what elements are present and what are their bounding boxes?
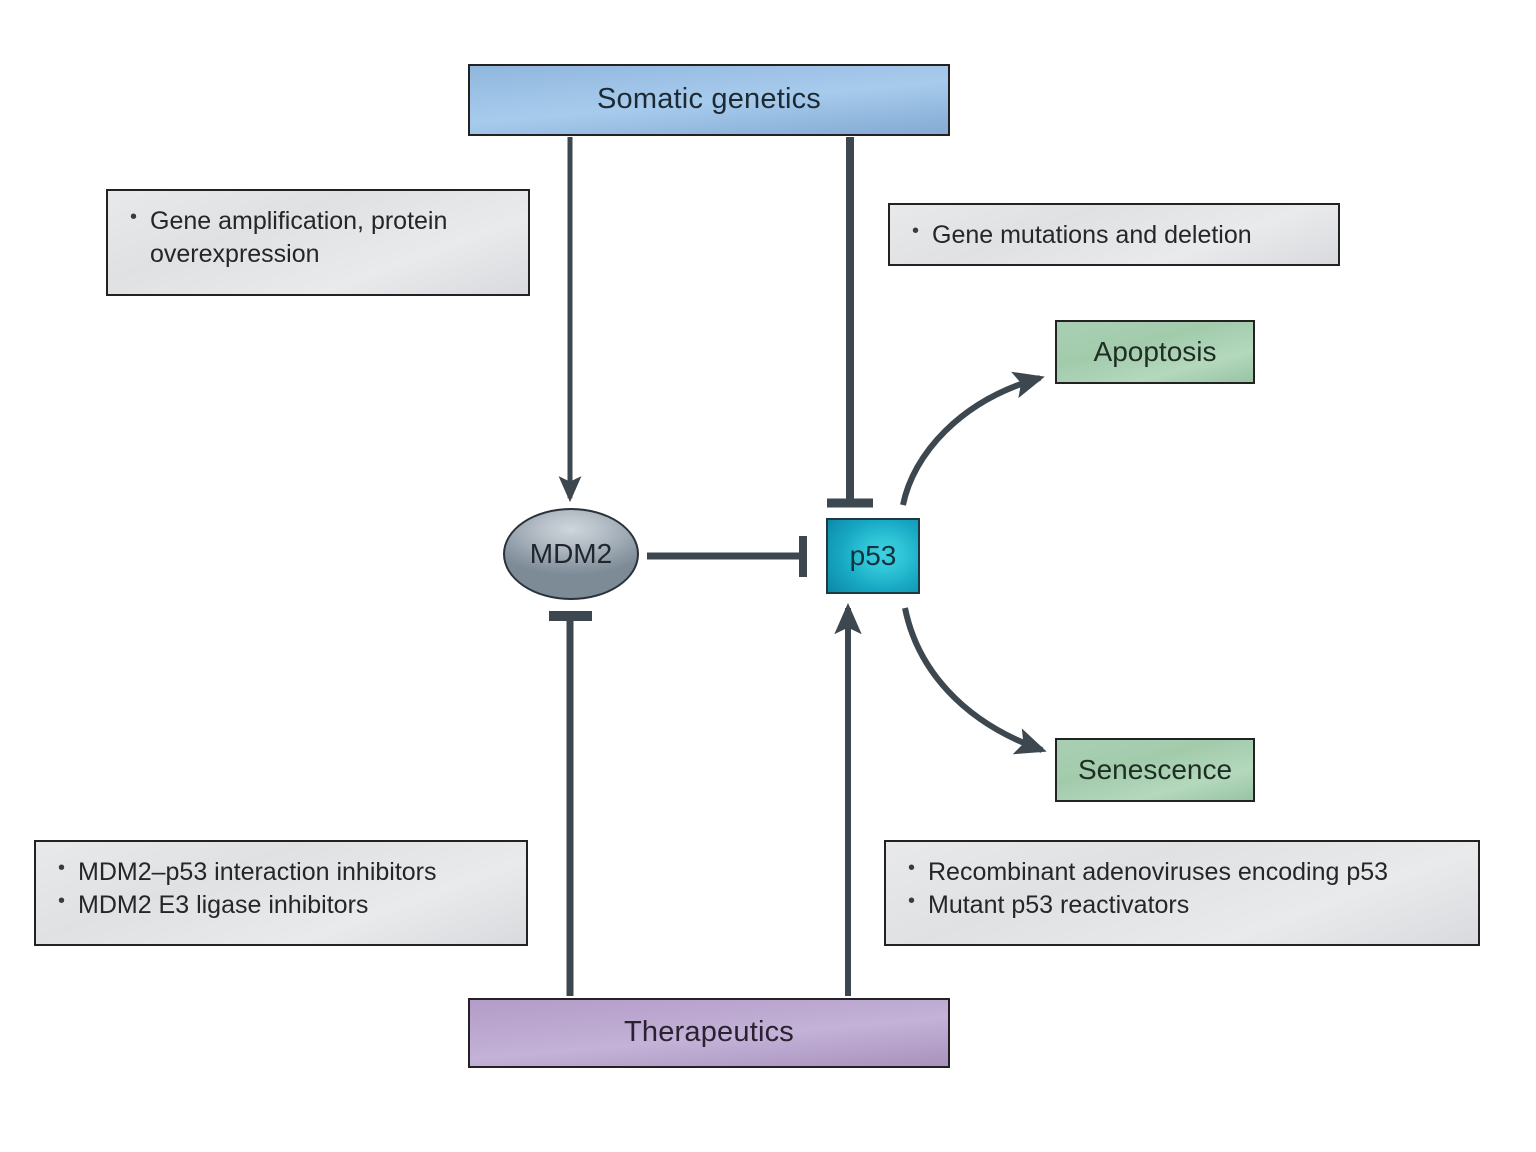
node-somatic-genetics-label: Somatic genetics: [597, 83, 821, 116]
node-apoptosis[interactable]: Apoptosis: [1055, 320, 1255, 384]
node-mdm2[interactable]: MDM2: [503, 508, 639, 600]
node-mdm2-label: MDM2: [530, 538, 612, 570]
p53-therapeutics-callout: Recombinant adenoviruses encoding p53 Mu…: [884, 840, 1480, 946]
list-item: Mutant p53 reactivators: [906, 889, 1460, 922]
node-p53[interactable]: p53: [826, 518, 920, 594]
node-therapeutics[interactable]: Therapeutics: [468, 998, 950, 1068]
node-apoptosis-label: Apoptosis: [1094, 336, 1217, 368]
edge-mdm2-to-p53: [647, 536, 803, 577]
edge-p53-to-senescence: [905, 608, 1042, 750]
node-senescence-label: Senescence: [1078, 754, 1232, 786]
mdm2-therapeutics-callout: MDM2–p53 interaction inhibitors MDM2 E3 …: [34, 840, 528, 946]
pathway-diagram-canvas: Somatic genetics MDM2 p53 Apoptosis Sene…: [0, 0, 1536, 1152]
node-senescence[interactable]: Senescence: [1055, 738, 1255, 802]
list-item: MDM2 E3 ligase inhibitors: [56, 889, 508, 922]
gene-amplification-callout: Gene amplification, protein overexpressi…: [106, 189, 530, 296]
callout-list: MDM2–p53 interaction inhibitors MDM2 E3 …: [56, 856, 508, 922]
list-item: Gene mutations and deletion: [910, 219, 1320, 252]
node-somatic-genetics[interactable]: Somatic genetics: [468, 64, 950, 136]
gene-mutations-callout: Gene mutations and deletion: [888, 203, 1340, 266]
edge-layer: [0, 0, 1536, 1152]
edge-p53-to-apoptosis: [903, 378, 1040, 505]
callout-list: Gene mutations and deletion: [910, 219, 1320, 252]
edge-therapeutics-to-mdm2: [549, 616, 592, 996]
node-p53-label: p53: [850, 540, 897, 572]
list-item: Gene amplification, protein overexpressi…: [128, 205, 510, 271]
node-therapeutics-label: Therapeutics: [624, 1016, 794, 1049]
callout-list: Recombinant adenoviruses encoding p53 Mu…: [906, 856, 1460, 922]
edge-somatic-to-p53: [827, 137, 873, 503]
callout-list: Gene amplification, protein overexpressi…: [128, 205, 510, 271]
list-item: MDM2–p53 interaction inhibitors: [56, 856, 508, 889]
list-item: Recombinant adenoviruses encoding p53: [906, 856, 1460, 889]
